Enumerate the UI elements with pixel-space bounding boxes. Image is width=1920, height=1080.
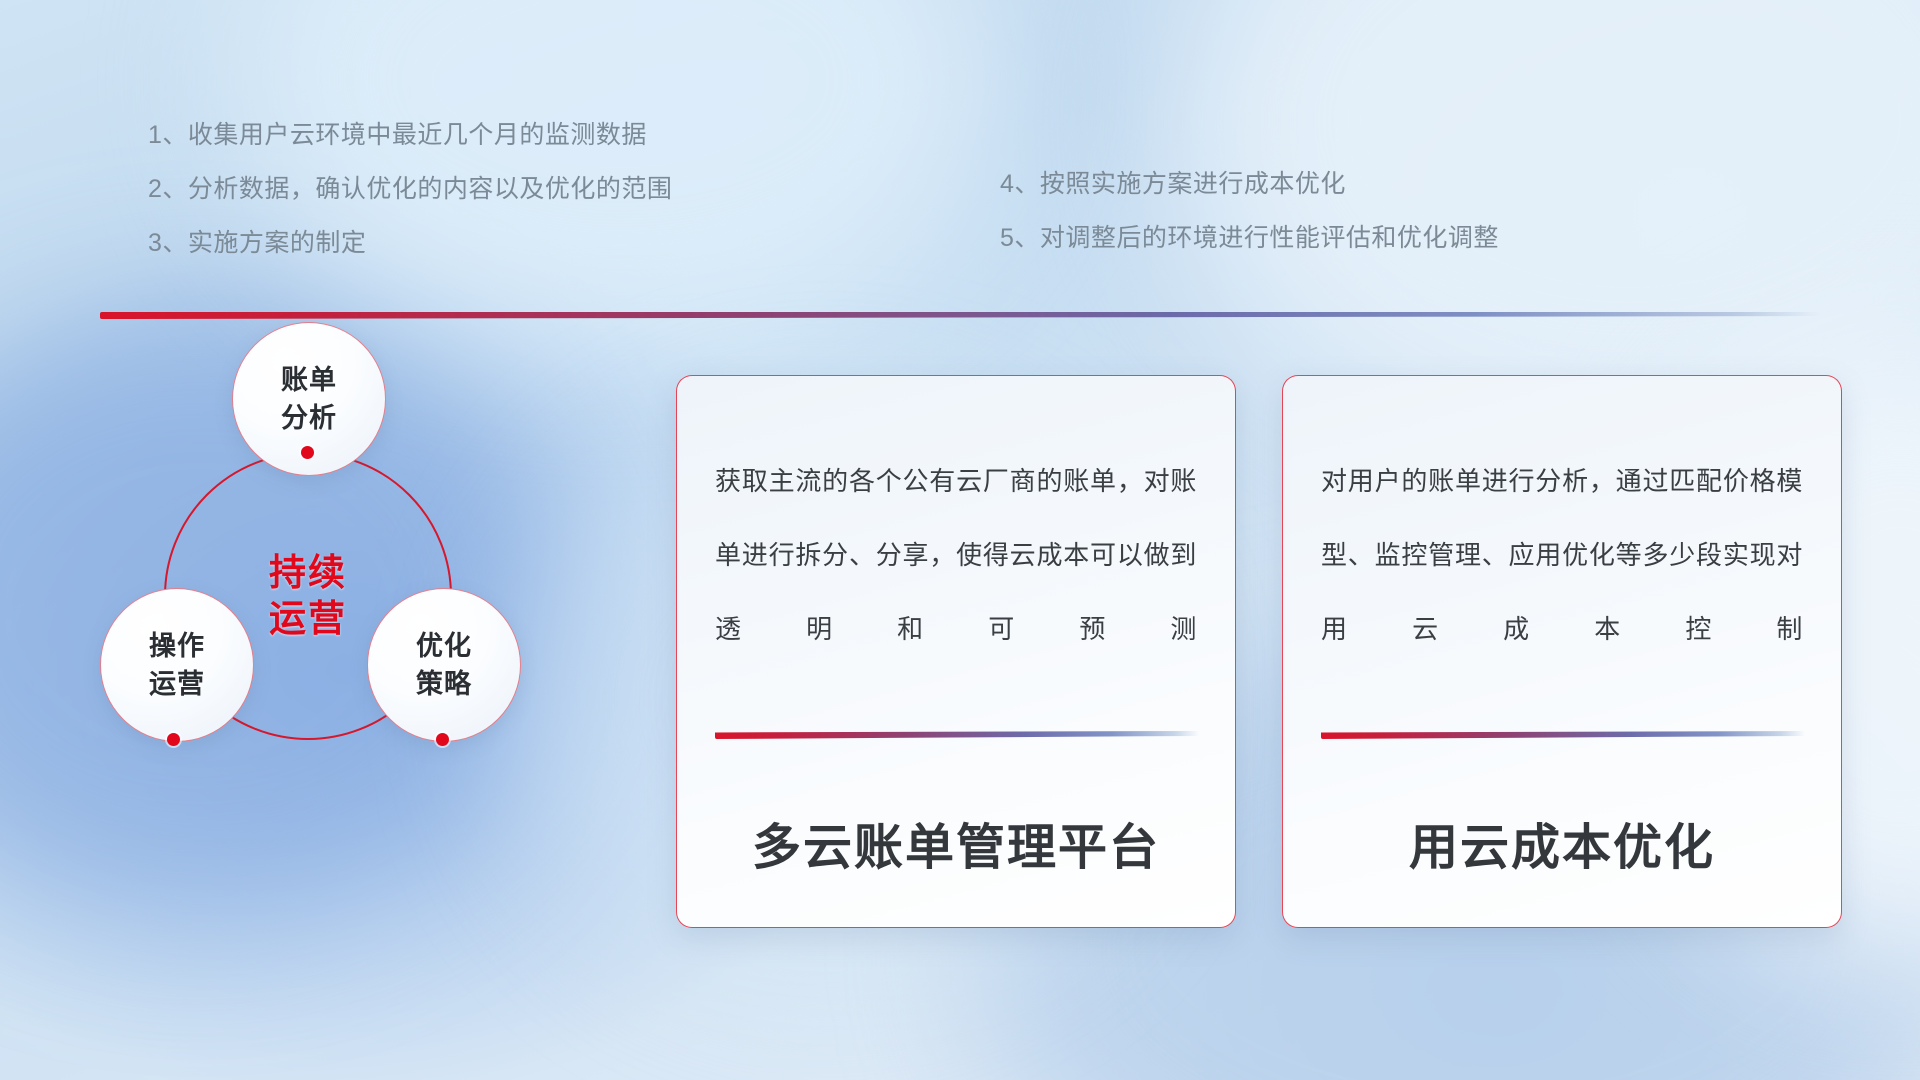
diagram-center-label: 持续运营: [164, 452, 452, 740]
feature-card-body: 获取主流的各个公有云厂商的账单，对账单进行拆分、分享，使得云成本可以做到透明和可…: [715, 444, 1197, 666]
diagram-node-top-label: 账单分析: [281, 361, 337, 437]
diagram-dot-top-icon: [301, 446, 314, 459]
diagram-dot-left-icon: [167, 733, 180, 746]
feature-card-title: 多云账单管理平台: [715, 808, 1197, 879]
bullet-item: 4、按照实施方案进行成本优化: [1000, 157, 1499, 211]
feature-card-title: 用云成本优化: [1321, 808, 1803, 879]
feature-card-divider: [1321, 731, 1805, 739]
bullet-item: 3、实施方案的制定: [148, 216, 672, 270]
bullet-list-left: 1、收集用户云环境中最近几个月的监测数据 2、分析数据，确认优化的内容以及优化的…: [148, 108, 672, 270]
header-divider: [100, 312, 1820, 319]
feature-card-body-text: 获取主流的各个公有云厂商的账单，对账单进行拆分、分享，使得云成本可以做到透明和可…: [715, 444, 1197, 666]
slide-canvas: 1、收集用户云环境中最近几个月的监测数据 2、分析数据，确认优化的内容以及优化的…: [0, 0, 1920, 1080]
bullet-list-right: 4、按照实施方案进行成本优化 5、对调整后的环境进行性能评估和优化调整: [1000, 157, 1499, 265]
feature-card-multicloud-billing[interactable]: 获取主流的各个公有云厂商的账单，对账单进行拆分、分享，使得云成本可以做到透明和可…: [676, 375, 1236, 928]
feature-card-body: 对用户的账单进行分析，通过匹配价格模型、监控管理、应用优化等多少段实现对用云成本…: [1321, 444, 1803, 666]
feature-card-cost-optimization[interactable]: 对用户的账单进行分析，通过匹配价格模型、监控管理、应用优化等多少段实现对用云成本…: [1282, 375, 1842, 928]
bullet-item: 5、对调整后的环境进行性能评估和优化调整: [1000, 211, 1499, 265]
bullet-item: 1、收集用户云环境中最近几个月的监测数据: [148, 108, 672, 162]
diagram-dot-right-icon: [436, 733, 449, 746]
cycle-diagram: 账单分析 操作运营 优化策略 持续运营: [95, 340, 615, 920]
bullet-item: 2、分析数据，确认优化的内容以及优化的范围: [148, 162, 672, 216]
feature-card-body-text: 对用户的账单进行分析，通过匹配价格模型、监控管理、应用优化等多少段实现对用云成本…: [1321, 444, 1803, 666]
feature-card-divider: [715, 731, 1199, 739]
